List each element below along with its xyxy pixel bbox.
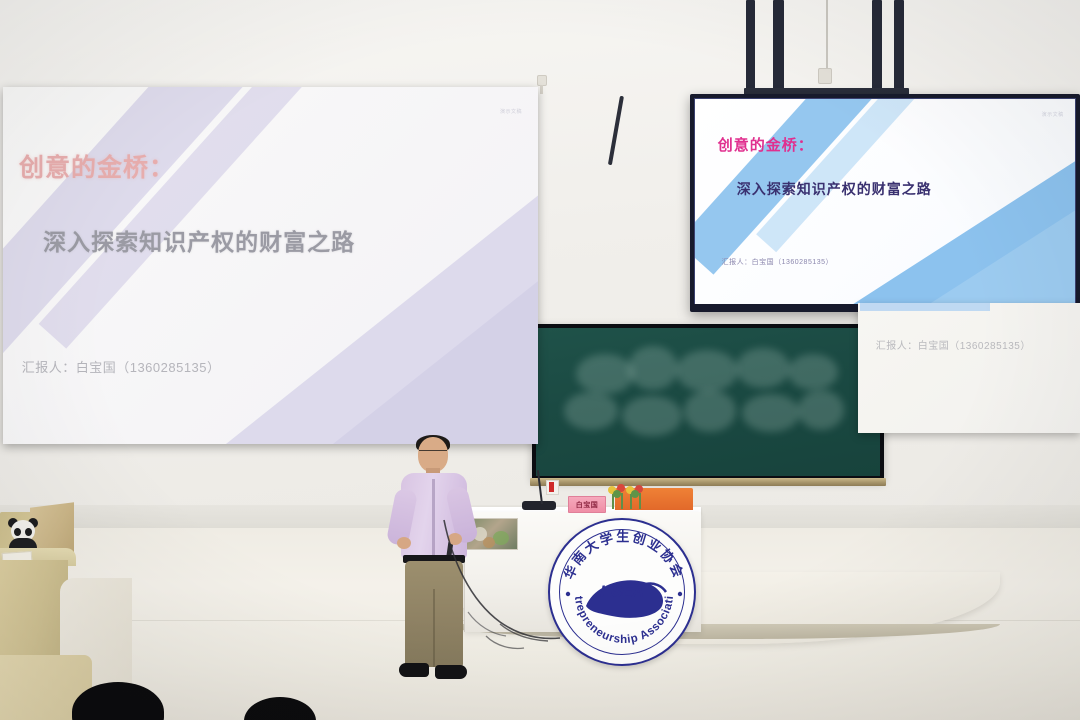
ceiling-mount-bracket — [746, 0, 755, 92]
microphone-flag-emblem — [549, 482, 554, 492]
secondary-projection-screen-frame: 汇报人：白宝国（1360285135） — [858, 303, 1080, 433]
ceiling-mount-bracket — [894, 0, 904, 95]
presenter-shirt-placket — [432, 479, 435, 557]
slide-watermark: 演示文稿 — [1042, 111, 1064, 118]
lecture-hall-photo: 演示文稿 创意的金桥： 深入探索知识产权的财富之路 汇报人：白宝国（136028… — [0, 0, 1080, 720]
slide-title: 创意的金桥： — [19, 148, 175, 184]
ceiling-mount-bracket — [872, 0, 882, 94]
emblem-abbreviation: HSEA — [600, 582, 643, 602]
slide-credit: 汇报人：白宝国（1360285135） — [22, 357, 221, 376]
ceiling-mount-bracket — [773, 0, 784, 96]
presenter-left-hand — [397, 537, 411, 549]
blackboard-frame — [532, 324, 884, 480]
presenter — [385, 437, 483, 685]
reception-desk-body — [0, 560, 68, 670]
slide-subtitle: 深入探索知识产权的财富之路 — [43, 223, 355, 257]
chalk-rail — [530, 478, 886, 486]
slide-credit: 汇报人：白宝国（1360285135） — [722, 257, 833, 267]
podium-name-card: 白宝国 — [568, 496, 606, 513]
hanging-wire — [826, 0, 828, 70]
svg-text:华南大学生创业协会: 华南大学生创业协会 — [561, 529, 687, 581]
presenter-trouser-seam — [433, 589, 435, 667]
association-emblem: 华南大学生创业协会 Entrepreneurship Association H… — [548, 518, 696, 666]
podium-name-card-text: 白宝国 — [576, 500, 599, 510]
slide-watermark: 演示文稿 — [500, 108, 522, 115]
flower-vase — [607, 484, 651, 512]
wall-junction-box — [818, 68, 832, 84]
wall-tv-screen: 演示文稿 创意的金桥： 深入探索知识产权的财富之路 汇报人：白宝国（136028… — [695, 99, 1075, 304]
blackboard — [536, 328, 880, 476]
slide-title: 创意的金桥： — [718, 134, 814, 155]
wall-tv-frame: 演示文稿 创意的金桥： 深入探索知识产权的财富之路 汇报人：白宝国（136028… — [690, 94, 1080, 312]
presenter-glasses — [419, 450, 447, 456]
presenter-left-shoe — [399, 663, 429, 677]
main-projection-screen-frame: 演示文稿 创意的金桥： 深入探索知识产权的财富之路 汇报人：白宝国（136028… — [3, 87, 538, 444]
slide-subtitle: 深入探索知识产权的财富之路 — [737, 179, 932, 199]
wall-hook-stem — [540, 85, 543, 94]
presenter-right-hand — [448, 533, 462, 545]
slide-accent-bar — [860, 303, 990, 311]
slide-credit: 汇报人：白宝国（1360285135） — [876, 337, 1031, 352]
microphone-base — [522, 501, 556, 510]
main-projection-screen: 演示文稿 创意的金桥： 深入探索知识产权的财富之路 汇报人：白宝国（136028… — [3, 87, 538, 444]
secondary-projection-screen: 汇报人：白宝国（1360285135） — [858, 303, 1080, 433]
presenter-right-shoe — [435, 665, 467, 679]
